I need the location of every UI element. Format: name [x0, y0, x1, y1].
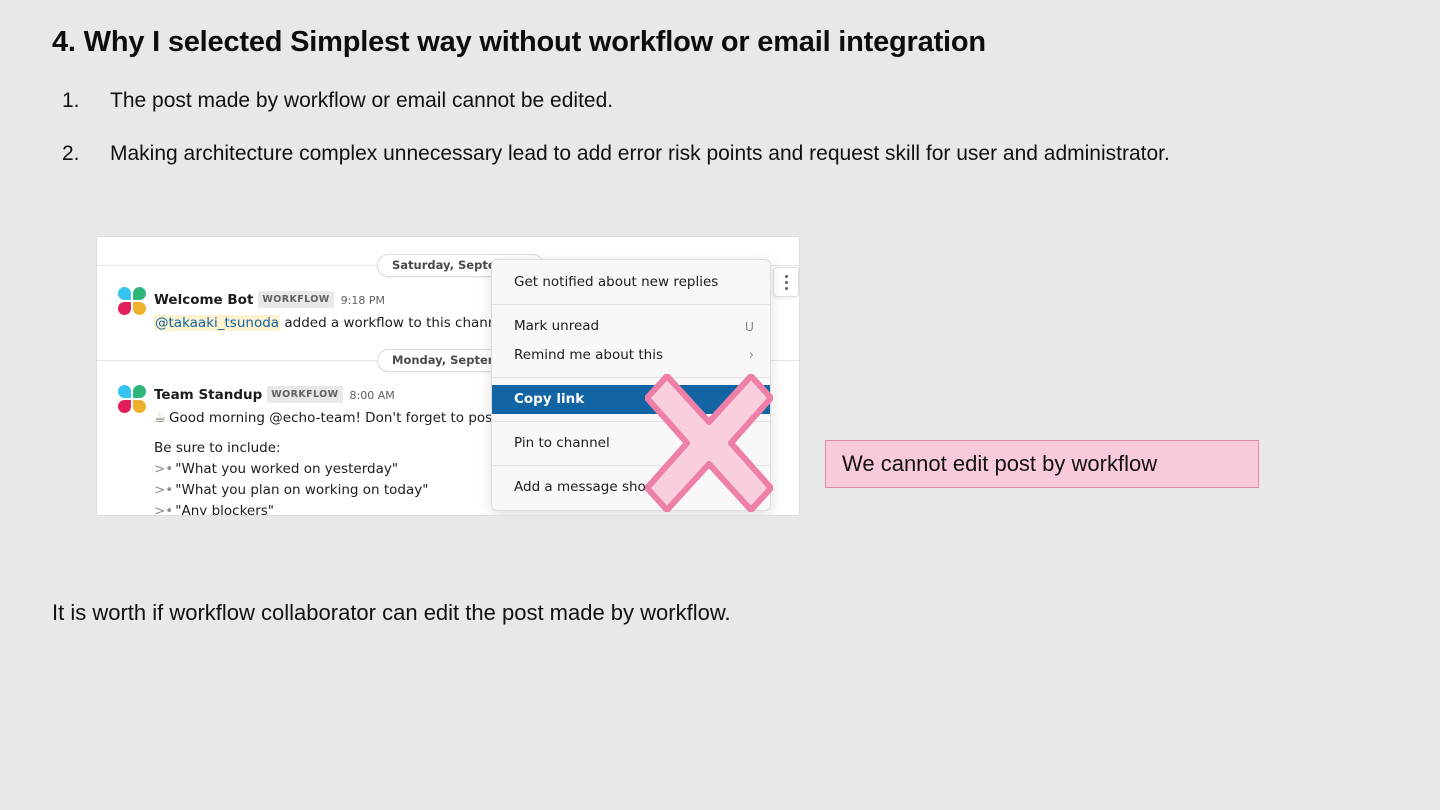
avatar-petal-top-left — [118, 287, 131, 300]
menu-item-label: Mark unread — [514, 312, 599, 341]
red-cross-annotation-icon — [645, 374, 773, 512]
avatar-petal-top-left — [118, 385, 131, 398]
blockquote-bullet-icon: >• — [154, 503, 173, 516]
user-mention[interactable]: @takaaki_tsunoda — [154, 315, 280, 331]
avatar-petal-bottom-left — [118, 400, 131, 413]
menu-item-get-notified[interactable]: Get notified about new replies — [492, 268, 770, 297]
numbered-list: 1. The post made by workflow or email ca… — [52, 84, 1382, 190]
message-timestamp: 9:18 PM — [341, 294, 385, 307]
list-item-text: Making architecture complex unnecessary … — [110, 137, 1382, 170]
list-item-number: 2. — [52, 137, 110, 170]
message-body-text: Good morning @echo-team! Don't forget to… — [169, 410, 510, 426]
callout-box: We cannot edit post by workflow — [825, 440, 1259, 488]
message-content: Welcome BotWORKFLOW9:18 PM @takaaki_tsun… — [154, 291, 531, 333]
avatar-petal-bottom-left — [118, 302, 131, 315]
list-item: 2. Making architecture complex unnecessa… — [52, 137, 1382, 170]
page-title: 4. Why I selected Simplest way without w… — [52, 26, 986, 59]
menu-item-shortcut: U — [745, 312, 754, 341]
menu-item-label: Remind me about this — [514, 341, 663, 370]
message-text: ☕Good morning @echo-team! Don't forget t… — [154, 409, 510, 428]
message-content: Team StandupWORKFLOW8:00 AM ☕Good mornin… — [154, 386, 510, 516]
blockquote-bullet-icon: >• — [154, 482, 173, 498]
message-quote-text: "What you worked on yesterday" — [175, 461, 398, 477]
message-quote-text: "Any blockers" — [175, 503, 274, 516]
message-text: @takaaki_tsunoda added a workflow to thi… — [154, 314, 531, 333]
avatar-petal-bottom-right — [133, 302, 146, 315]
menu-item-label: Pin to channel — [514, 429, 610, 458]
coffee-emoji-icon: ☕ — [154, 409, 169, 428]
list-item-text: The post made by workflow or email canno… — [110, 84, 1382, 117]
menu-divider — [492, 304, 770, 305]
message-subheading: Be sure to include: — [154, 438, 510, 459]
avatar-petal-top-right — [133, 385, 146, 398]
kebab-menu-icon — [785, 275, 788, 278]
message-quote-item: >•"Any blockers" — [154, 501, 510, 516]
workflow-badge: WORKFLOW — [267, 386, 342, 403]
callout-text: We cannot edit post by workflow — [842, 451, 1157, 477]
kebab-menu-icon — [785, 287, 788, 290]
slide-canvas: 4. Why I selected Simplest way without w… — [0, 0, 1440, 810]
message-quote-item: >•"What you worked on yesterday" — [154, 459, 510, 480]
kebab-menu-icon — [785, 281, 788, 284]
avatar-petal-top-right — [133, 287, 146, 300]
message-timestamp: 8:00 AM — [350, 389, 395, 402]
workflow-badge: WORKFLOW — [258, 291, 333, 308]
avatar — [118, 287, 148, 317]
menu-item-label: Get notified about new replies — [514, 268, 718, 297]
message-header: Welcome BotWORKFLOW9:18 PM — [154, 291, 531, 308]
message-author[interactable]: Team Standup — [154, 387, 262, 403]
chevron-right-icon: › — [749, 341, 754, 370]
message-quote-text: "What you plan on working on today" — [175, 482, 428, 498]
message-quote-item: >•"What you plan on working on today" — [154, 480, 510, 501]
message-author[interactable]: Welcome Bot — [154, 292, 253, 308]
avatar-petal-bottom-right — [133, 400, 146, 413]
blockquote-bullet-icon: >• — [154, 461, 173, 477]
menu-item-label: Copy link — [514, 385, 584, 414]
more-actions-button[interactable] — [773, 267, 799, 297]
menu-item-mark-unread[interactable]: Mark unread U — [492, 312, 770, 341]
list-item-number: 1. — [52, 84, 110, 117]
avatar — [118, 385, 148, 415]
footer-note: It is worth if workflow collaborator can… — [52, 600, 731, 626]
menu-item-remind-me[interactable]: Remind me about this › — [492, 341, 770, 370]
list-item: 1. The post made by workflow or email ca… — [52, 84, 1382, 117]
message-header: Team StandupWORKFLOW8:00 AM — [154, 386, 510, 403]
